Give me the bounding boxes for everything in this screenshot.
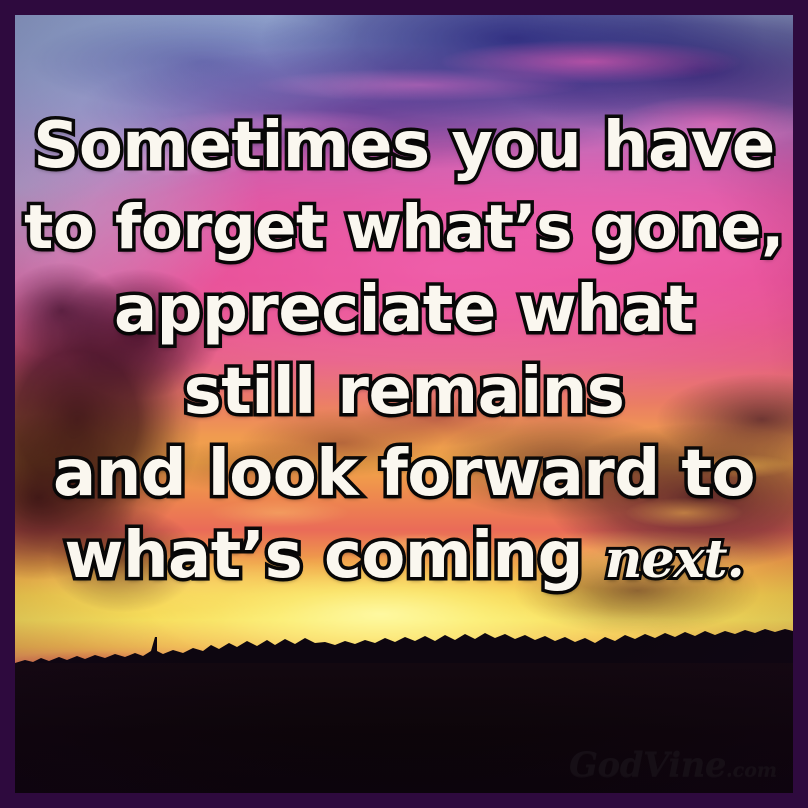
quote-text-block: Sometimes you have to forget what’s gone… [15,105,793,601]
sunset-photo: Sometimes you have to forget what’s gone… [15,15,793,793]
watermark-brand: GodVine [569,745,726,785]
quote-line-6: what’s coming next. [21,515,787,601]
quote-line-3: appreciate what [21,269,787,351]
quote-script-word-next: next. [605,529,744,590]
quote-line-2: to forget what’s gone, [21,187,787,269]
quote-line-4: still remains [21,351,787,433]
watermark-tld: .com [726,759,777,781]
quote-line-6-plain: what’s coming [64,519,583,593]
watermark: GodVine.com [569,745,777,785]
quote-line-1: Sometimes you have [21,105,787,187]
quote-card: Sometimes you have to forget what’s gone… [0,0,808,808]
quote-line-5: and look forward to [21,433,787,515]
